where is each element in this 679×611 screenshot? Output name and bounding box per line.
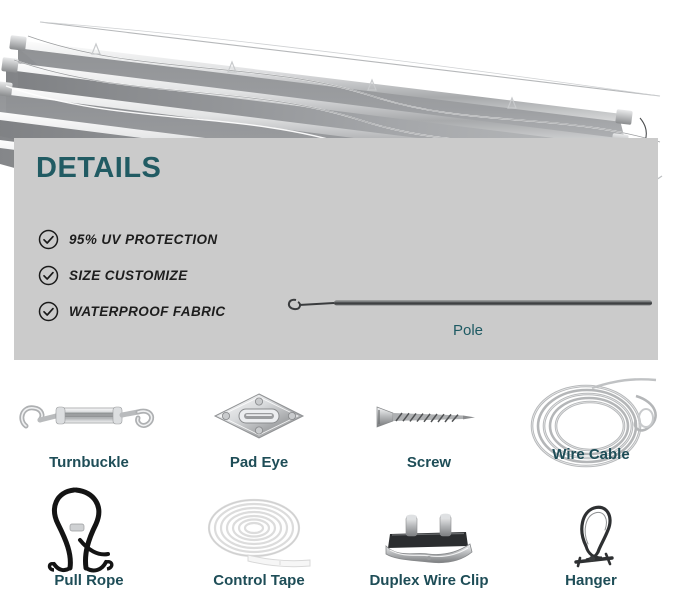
accessory-label: Hanger	[506, 572, 676, 589]
details-panel: DETAILS 95% UV PROTECTION	[14, 138, 658, 360]
feature-list: 95% UV PROTECTION SIZE CUSTOMIZE	[38, 224, 226, 332]
feature-label: WATERPROOF FABRIC	[69, 304, 226, 319]
turnbuckle-icon	[4, 380, 174, 460]
accessory-label: Duplex Wire Clip	[334, 572, 524, 589]
screw-icon	[344, 380, 514, 460]
pole-figure: Pole	[282, 288, 654, 352]
accessory-label: Control Tape	[174, 572, 344, 589]
accessory-label: Pull Rope	[4, 572, 174, 589]
pole-label: Pole	[282, 322, 654, 339]
accessory-item-screw: Screw	[344, 380, 514, 497]
accessory-item-hanger: Hanger	[506, 498, 676, 611]
accessory-item-wire-cable: Wire Cable	[506, 380, 676, 497]
feature-item: SIZE CUSTOMIZE	[38, 260, 226, 290]
accessory-label: Pad Eye	[174, 454, 344, 471]
accessory-label: Turnbuckle	[4, 454, 174, 471]
check-circle-icon	[38, 265, 59, 286]
accessory-item-pad-eye: Pad Eye	[174, 380, 344, 497]
accessory-item-duplex-wire-clip: Duplex Wire Clip	[344, 498, 514, 611]
accessory-label: Screw	[344, 454, 514, 471]
feature-label: 95% UV PROTECTION	[69, 232, 218, 247]
pad-eye-icon	[174, 380, 344, 460]
accessory-grid: Turnbuckle	[0, 372, 679, 611]
pole-icon	[282, 288, 654, 322]
check-circle-icon	[38, 301, 59, 322]
accessory-label: Wire Cable	[496, 446, 679, 463]
feature-item: 95% UV PROTECTION	[38, 224, 226, 254]
infographic-page: DETAILS 95% UV PROTECTION	[0, 0, 679, 611]
duplex-wire-clip-icon	[344, 502, 514, 582]
check-circle-icon	[38, 229, 59, 250]
feature-label: SIZE CUSTOMIZE	[69, 268, 188, 283]
accessory-item-pull-rope: Pull Rope	[4, 498, 174, 611]
control-tape-icon	[174, 492, 344, 582]
feature-item: WATERPROOF FABRIC	[38, 296, 226, 326]
page-title: DETAILS	[36, 152, 161, 185]
pull-rope-icon	[4, 480, 174, 580]
accessory-item-control-tape: Control Tape	[174, 498, 344, 611]
hanger-icon	[506, 496, 676, 576]
